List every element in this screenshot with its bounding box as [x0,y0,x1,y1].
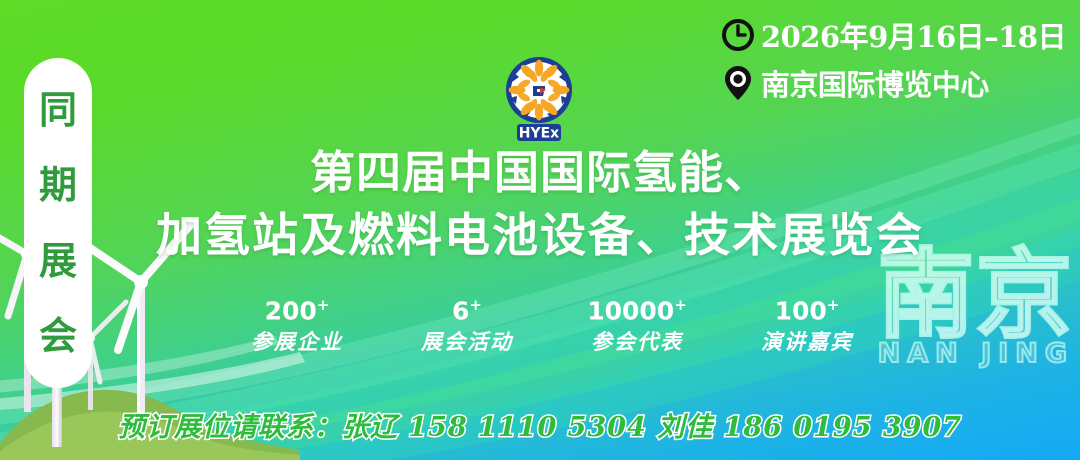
stat-label: 展会活动 [382,326,552,356]
stat-number: 100+ [722,298,892,325]
stats-row: 200+ 参展企业 6+ 展会活动 10000+ 参会代表 100+ 演讲嘉宾 [212,298,892,356]
clock-icon [721,18,755,52]
page-title: 第四届中国国际氢能、 加氢站及燃料电池设备、技术展览会 [0,142,1080,266]
contact-line: 预订展位请联系：张辽 158 1110 5304 刘佳 186 0195 390… [0,405,1080,444]
stat-item: 10000+ 参会代表 [552,298,722,356]
logo-badge-text: HYEx [519,126,559,142]
pill-char-4: 会 [39,317,77,355]
stat-item: 100+ 演讲嘉宾 [722,298,892,356]
stat-item: 6+ 展会活动 [382,298,552,356]
stat-label: 参展企业 [212,326,382,356]
hyex-emblem-icon: HYEx [502,54,576,142]
exhibition-banner: 同 期 展 会 2026年9月16日–18日 南京国际博览中心 [0,0,1080,460]
pill-char-1: 同 [39,91,77,129]
contact-text: 预订展位请联系：张辽 158 1110 5304 刘佳 186 0195 390… [118,405,962,444]
event-date-row: 2026年9月16日–18日 [721,14,1066,56]
location-pin-icon [721,64,755,102]
stat-number: 200+ [212,298,382,325]
event-date-text: 2026年9月16日–18日 [761,14,1066,56]
stat-number: 6+ [382,298,552,325]
title-line-2: 加氢站及燃料电池设备、技术展览会 [0,204,1080,266]
title-line-1: 第四届中国国际氢能、 [0,142,1080,204]
event-venue-text: 南京国际博览中心 [761,62,989,104]
stat-item: 200+ 参展企业 [212,298,382,356]
event-info-block: 2026年9月16日–18日 南京国际博览中心 [721,14,1066,110]
stat-number: 10000+ [552,298,722,325]
stat-label: 演讲嘉宾 [722,326,892,356]
event-venue-row: 南京国际博览中心 [721,62,1066,104]
stat-label: 参会代表 [552,326,722,356]
